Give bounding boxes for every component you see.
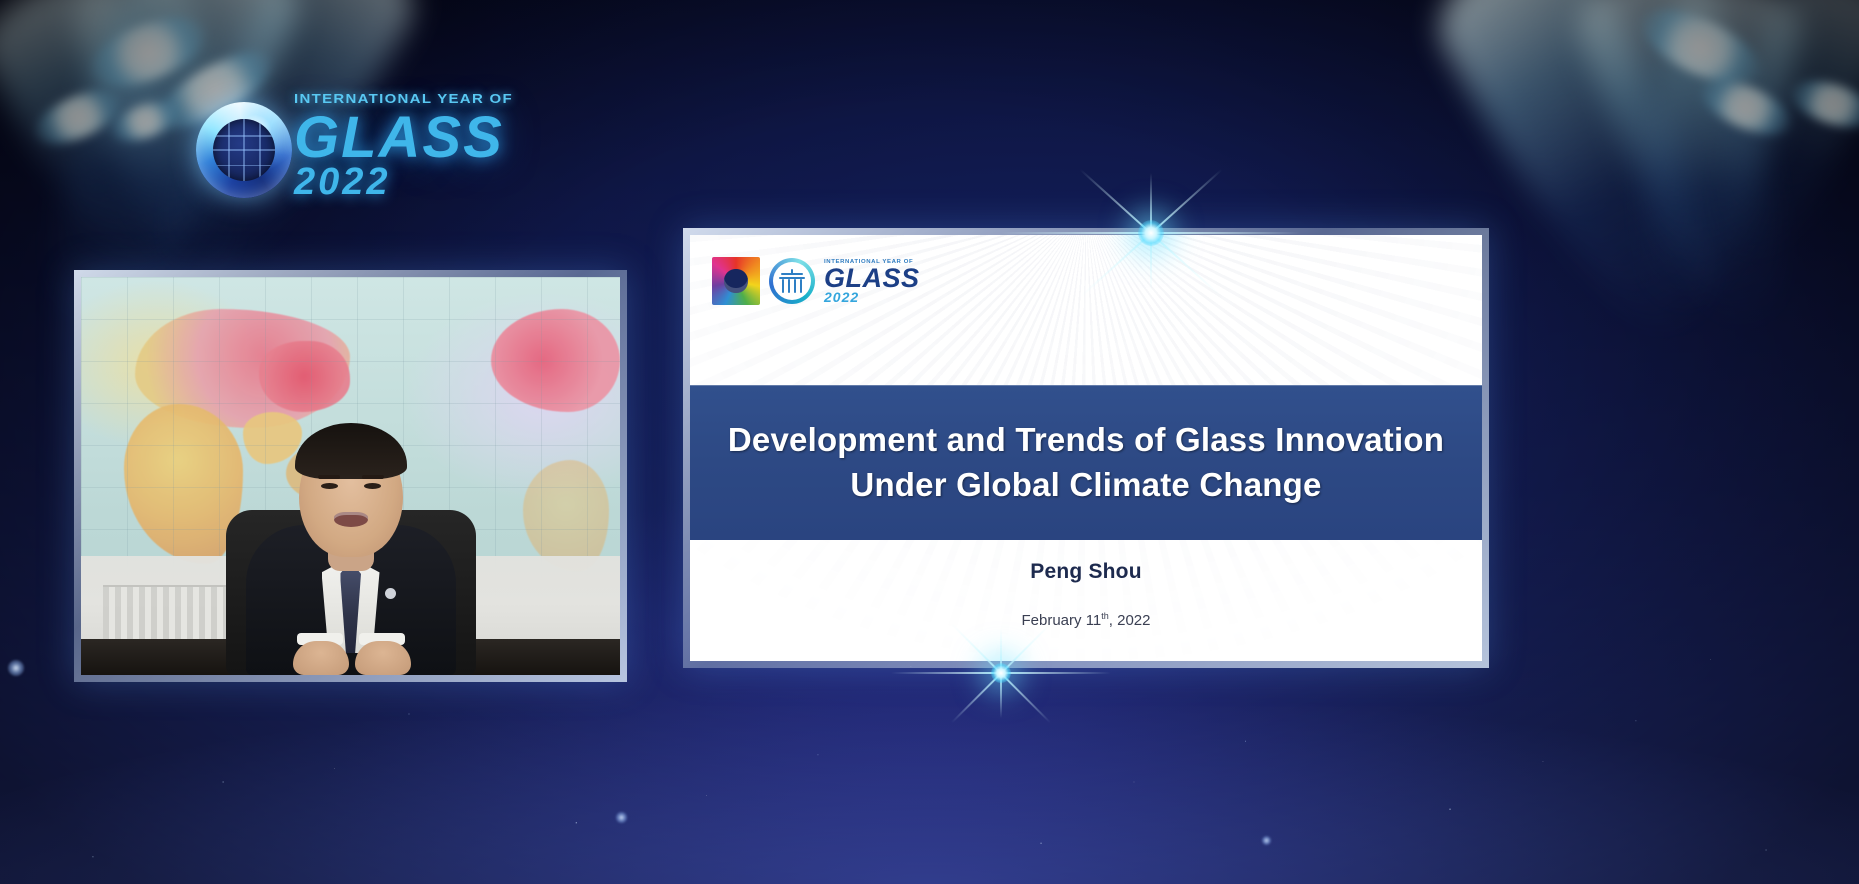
video-panel-screen	[81, 277, 620, 675]
speaker-eye-right	[364, 483, 381, 489]
globe-icon	[196, 102, 292, 198]
speaker-hand-right	[355, 641, 411, 675]
iyog-emblem-icon	[712, 257, 760, 305]
speaker-figure	[201, 375, 501, 675]
slide-title-line-1: Development and Trends of Glass Innovati…	[728, 418, 1444, 463]
bokeh-orb	[1262, 836, 1271, 845]
slide-logo-year: 2022	[824, 290, 920, 304]
date-year: , 2022	[1109, 612, 1151, 629]
globe-circle-glyph	[779, 269, 805, 293]
bokeh-orb	[616, 812, 627, 823]
slide-title: Development and Trends of Glass Innovati…	[702, 418, 1470, 507]
slide-presentation-date: February 11th, 2022	[690, 611, 1482, 629]
speaker-hand-left	[293, 641, 349, 675]
speaker-video-panel[interactable]	[74, 270, 627, 682]
speaker-eye-left	[321, 483, 338, 489]
slide-presenter-name: Peng Shou	[690, 560, 1482, 584]
slide-logo-group: INTERNATIONAL YEAR OF GLASS 2022	[712, 257, 920, 305]
presentation-slide-panel[interactable]: INTERNATIONAL YEAR OF GLASS 2022 Develop…	[683, 228, 1489, 668]
event-logo-kicker: INTERNATIONAL YEAR OF	[294, 92, 494, 106]
slide-title-line-2: Under Global Climate Change	[728, 463, 1444, 508]
speaker-brow-left	[318, 475, 340, 479]
event-logo: INTERNATIONAL YEAR OF GLASS 2022	[190, 88, 490, 213]
lapel-pin-icon	[385, 588, 396, 599]
date-prefix: February 11	[1022, 612, 1102, 629]
slide-title-band: Development and Trends of Glass Innovati…	[690, 385, 1482, 540]
slide-logo-main: GLASS	[824, 265, 920, 292]
speaker-brow-right	[362, 475, 384, 479]
slide-glass-wordmark: INTERNATIONAL YEAR OF GLASS 2022	[824, 259, 920, 304]
slide-screen: INTERNATIONAL YEAR OF GLASS 2022 Develop…	[690, 235, 1482, 661]
virtual-stage: INTERNATIONAL YEAR OF GLASS 2022	[0, 0, 1859, 884]
slide-logo-kicker: INTERNATIONAL YEAR OF	[824, 259, 920, 264]
speaker-hair	[295, 423, 407, 479]
speaker-mouth	[334, 512, 368, 527]
event-logo-main: GLASS	[294, 111, 494, 164]
date-ordinal-suffix: th	[1101, 611, 1109, 621]
globe-grid	[213, 119, 275, 181]
video-scene	[81, 277, 620, 675]
bokeh-orb	[8, 660, 24, 676]
event-logo-wordmark: INTERNATIONAL YEAR OF GLASS 2022	[294, 92, 494, 200]
globe-circle-icon	[769, 258, 815, 304]
